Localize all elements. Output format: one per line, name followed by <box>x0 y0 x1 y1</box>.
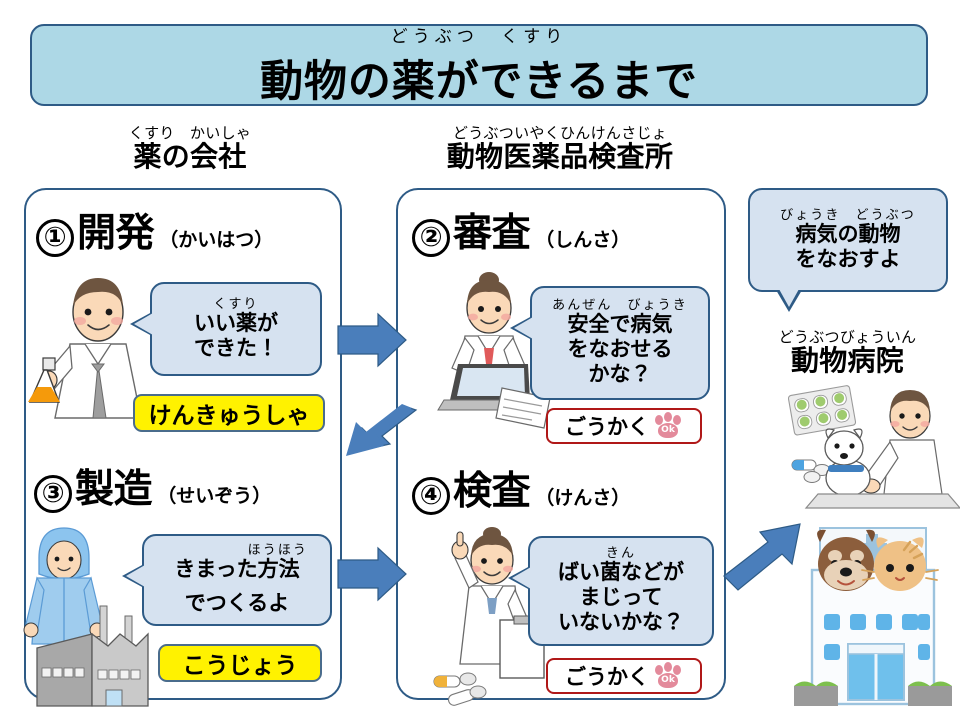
column-heading-pharma-furigana: くすり かいしゃ <box>55 126 325 141</box>
step-kana-4: （けんさ） <box>535 483 630 510</box>
speech-bubble-test-line-3: いないかな？ <box>558 610 684 635</box>
step-number-1: ① <box>36 219 74 257</box>
speech-bubble-vet-line-2: をなおすよ <box>796 247 901 272</box>
column-heading-hospital-furigana: どうぶつびょういん <box>740 330 955 345</box>
arrow-right-icon-produce-to-test <box>338 546 408 606</box>
speech-bubble-test-line-1: ばい菌などが <box>558 560 684 585</box>
arrow-left-icon-review-to-produce <box>332 406 418 476</box>
step-title-test: ④ 検査 （けんさ） <box>412 460 630 516</box>
step-number-2: ② <box>412 219 450 257</box>
step-title-review: ② 審査 （しんさ） <box>412 202 630 258</box>
speech-bubble-test-furigana: きん <box>606 547 636 560</box>
speech-bubble-review-line-3: かな？ <box>589 362 652 387</box>
column-heading-hospital-label: 動物病院 <box>791 344 904 377</box>
animal-hospital-illustration <box>786 528 960 718</box>
column-heading-pharma: くすり かいしゃ 薬の会社 <box>55 126 325 171</box>
arrow-right-icon-develop-to-review <box>338 312 408 372</box>
badge-pass-review-label: ごうかく <box>565 411 649 441</box>
speech-bubble-produce-line-1: きまった方法 <box>174 557 299 582</box>
speech-bubble-develop: くすり いい薬が できた！ <box>150 282 322 376</box>
step-title-produce: ③ 製造 （せいぞう） <box>34 458 271 514</box>
speech-bubble-produce-line-2: でつくるよ <box>185 591 290 616</box>
column-heading-inspection: どうぶついやくひんけんさじょ 動物医薬品検査所 <box>390 126 730 171</box>
step-kanji-1: 開発 <box>77 202 154 258</box>
tag-researcher: けんきゅうしゃ <box>133 394 325 432</box>
speech-bubble-review-line-2: をなおせる <box>568 337 673 362</box>
speech-bubble-review-furigana: あんぜん びょうき <box>552 299 688 312</box>
speech-bubble-review-line-1: 安全で病気 <box>568 312 673 337</box>
tag-factory-label: こうじょう <box>183 646 298 680</box>
column-heading-inspection-label: 動物医薬品検査所 <box>447 140 673 173</box>
badge-pass-test: ごうかく Ok <box>546 658 702 694</box>
page-title-furigana: どうぶつ くすり <box>260 29 698 46</box>
step-kana-3: （せいぞう） <box>157 481 271 508</box>
speech-bubble-vet-line-1: 病気の動物 <box>796 222 901 247</box>
page-title: 動物の薬ができるまで <box>260 57 698 107</box>
step-kana-1: （かいはつ） <box>159 225 273 252</box>
paw-print-icon-2: Ok <box>653 662 683 690</box>
tag-factory: こうじょう <box>158 644 322 682</box>
arrow-up-right-icon-to-hospital <box>722 520 808 600</box>
infographic-root: どうぶつ くすり 動物の薬ができるまで くすり かいしゃ 薬の会社 どうぶついや… <box>0 0 960 720</box>
badge-pass-test-stamp: Ok <box>661 676 675 685</box>
step-kanji-3: 製造 <box>75 458 152 514</box>
step-number-4: ④ <box>412 477 450 515</box>
column-heading-hospital: どうぶつびょういん 動物病院 <box>740 330 955 375</box>
speech-bubble-test: きん ばい菌などが まじって いないかな？ <box>528 536 714 646</box>
veterinarian-illustration <box>788 382 960 512</box>
speech-bubble-develop-line-2: できた！ <box>194 336 278 361</box>
speech-bubble-test-line-2: まじって <box>580 585 663 610</box>
step-kana-2: （しんさ） <box>535 225 630 252</box>
page-title-banner: どうぶつ くすり 動物の薬ができるまで <box>30 24 928 106</box>
speech-bubble-develop-line-1: いい薬が <box>194 311 278 336</box>
badge-pass-test-label: ごうかく <box>565 661 649 691</box>
badge-pass-review-stamp: Ok <box>661 426 675 435</box>
speech-bubble-vet: びょうき どうぶつ 病気の動物 をなおすよ <box>748 188 948 292</box>
step-number-3: ③ <box>34 475 72 513</box>
column-heading-pharma-label: 薬の会社 <box>133 140 246 173</box>
badge-pass-review: ごうかく Ok <box>546 408 702 444</box>
speech-bubble-review: あんぜん びょうき 安全で病気 をなおせる かな？ <box>530 286 710 400</box>
speech-bubble-develop-furigana: くすり <box>213 298 258 311</box>
speech-bubble-vet-furigana: びょうき どうぶつ <box>780 209 916 222</box>
tag-researcher-label: けんきゅうしゃ <box>149 396 310 430</box>
step-kanji-4: 検査 <box>453 460 530 516</box>
column-heading-inspection-furigana: どうぶついやくひんけんさじょ <box>390 126 730 141</box>
speech-bubble-produce: ほうほう きまった方法 でつくるよ <box>142 534 332 626</box>
step-kanji-2: 審査 <box>453 202 530 258</box>
step-title-develop: ① 開発 （かいはつ） <box>36 202 273 258</box>
paw-print-icon: Ok <box>653 412 683 440</box>
speech-bubble-produce-furigana: ほうほう <box>248 544 308 557</box>
